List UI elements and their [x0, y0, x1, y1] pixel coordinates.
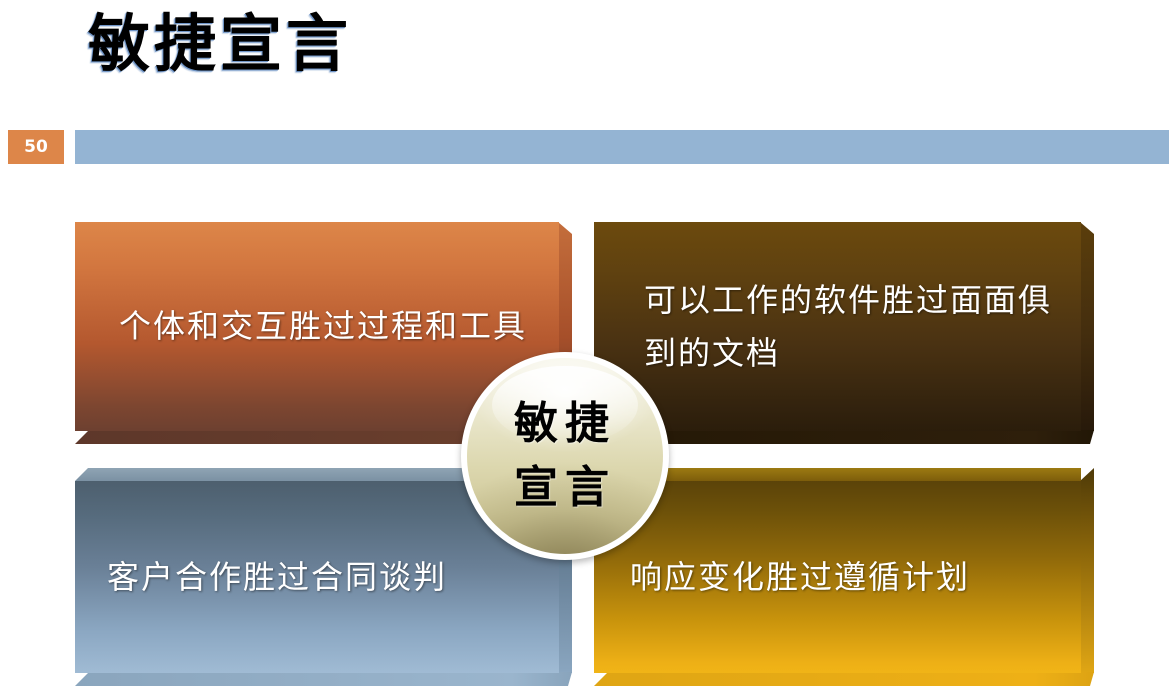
- quadrant-bottom-face: [594, 430, 1094, 444]
- quadrant-working-software[interactable]: 可以工作的软件胜过面面俱到的文档: [594, 222, 1094, 444]
- quadrant-label: 响应变化胜过遵循计划: [594, 551, 996, 604]
- quadrant-responding-to-change[interactable]: 响应变化胜过遵循计划: [594, 468, 1094, 686]
- center-sphere-label: 敏捷 宣言: [514, 392, 616, 520]
- agile-manifesto-diagram: 个体和交互胜过过程和工具 可以工作的软件胜过面面俱到的文档 客户合作胜过合同谈判…: [0, 0, 1169, 698]
- quadrant-front-face: 响应变化胜过遵循计划: [594, 481, 1081, 673]
- quadrant-side-face: [1080, 222, 1094, 431]
- quadrant-side-face: [1080, 468, 1094, 673]
- quadrant-bottom-face: [594, 672, 1094, 686]
- quadrant-label: 个体和交互胜过过程和工具: [75, 300, 553, 353]
- center-sphere-body: 敏捷 宣言: [467, 358, 663, 554]
- quadrant-front-face: 可以工作的软件胜过面面俱到的文档: [594, 222, 1081, 431]
- center-sphere-line-2: 宣言: [514, 456, 616, 520]
- center-sphere-line-1: 敏捷: [514, 392, 616, 456]
- quadrant-label: 客户合作胜过合同谈判: [75, 551, 473, 604]
- quadrant-bottom-face: [75, 672, 572, 686]
- center-sphere[interactable]: 敏捷 宣言: [461, 352, 669, 560]
- quadrant-label: 可以工作的软件胜过面面俱到的文档: [594, 274, 1081, 380]
